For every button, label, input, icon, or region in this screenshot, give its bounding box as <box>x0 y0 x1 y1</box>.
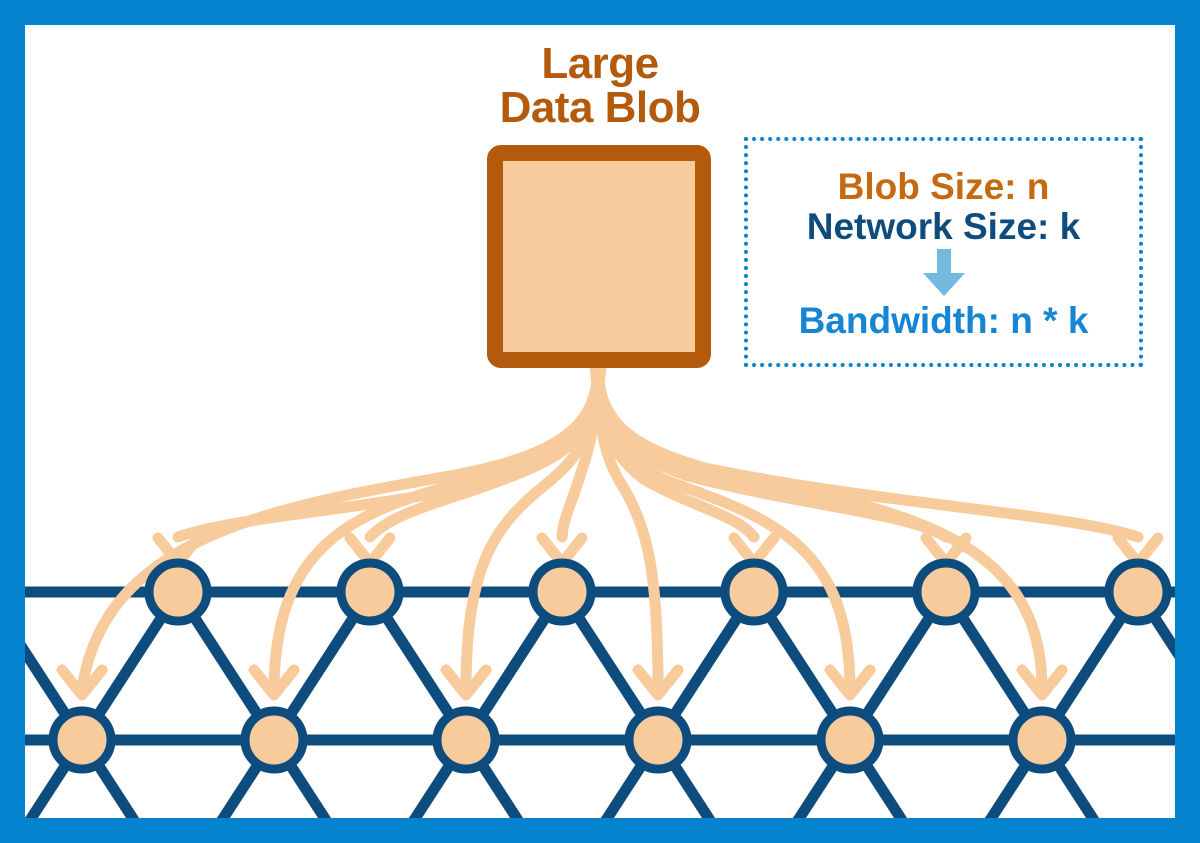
network-node[interactable] <box>245 711 303 769</box>
network-node[interactable] <box>533 563 591 621</box>
network-node[interactable] <box>149 563 207 621</box>
broadcast-curve <box>274 365 598 689</box>
network-node[interactable] <box>1109 563 1167 621</box>
down-arrow-icon <box>921 249 967 297</box>
figure-frame: Large Data Blob Blob Size: n Network Siz… <box>0 0 1200 843</box>
legend-network-size: Network Size: k <box>807 207 1080 247</box>
data-blob-square[interactable] <box>495 153 703 360</box>
network-node[interactable] <box>917 563 975 621</box>
mesh-edges <box>25 444 1175 818</box>
network-node[interactable] <box>437 711 495 769</box>
legend-bandwidth: Bandwidth: n * k <box>799 301 1089 341</box>
network-node[interactable] <box>1013 711 1071 769</box>
network-node[interactable] <box>53 711 111 769</box>
broadcast-arrows <box>62 365 1158 695</box>
network-node[interactable] <box>725 563 783 621</box>
legend-box: Blob Size: n Network Size: k Bandwidth: … <box>744 137 1143 367</box>
network-node[interactable] <box>341 563 399 621</box>
blob-title: Large Data Blob <box>405 42 795 130</box>
legend-blob-size: Blob Size: n <box>838 167 1050 207</box>
network-node[interactable] <box>821 711 879 769</box>
network-node[interactable] <box>629 711 687 769</box>
diagram-canvas: Large Data Blob Blob Size: n Network Siz… <box>25 25 1175 818</box>
